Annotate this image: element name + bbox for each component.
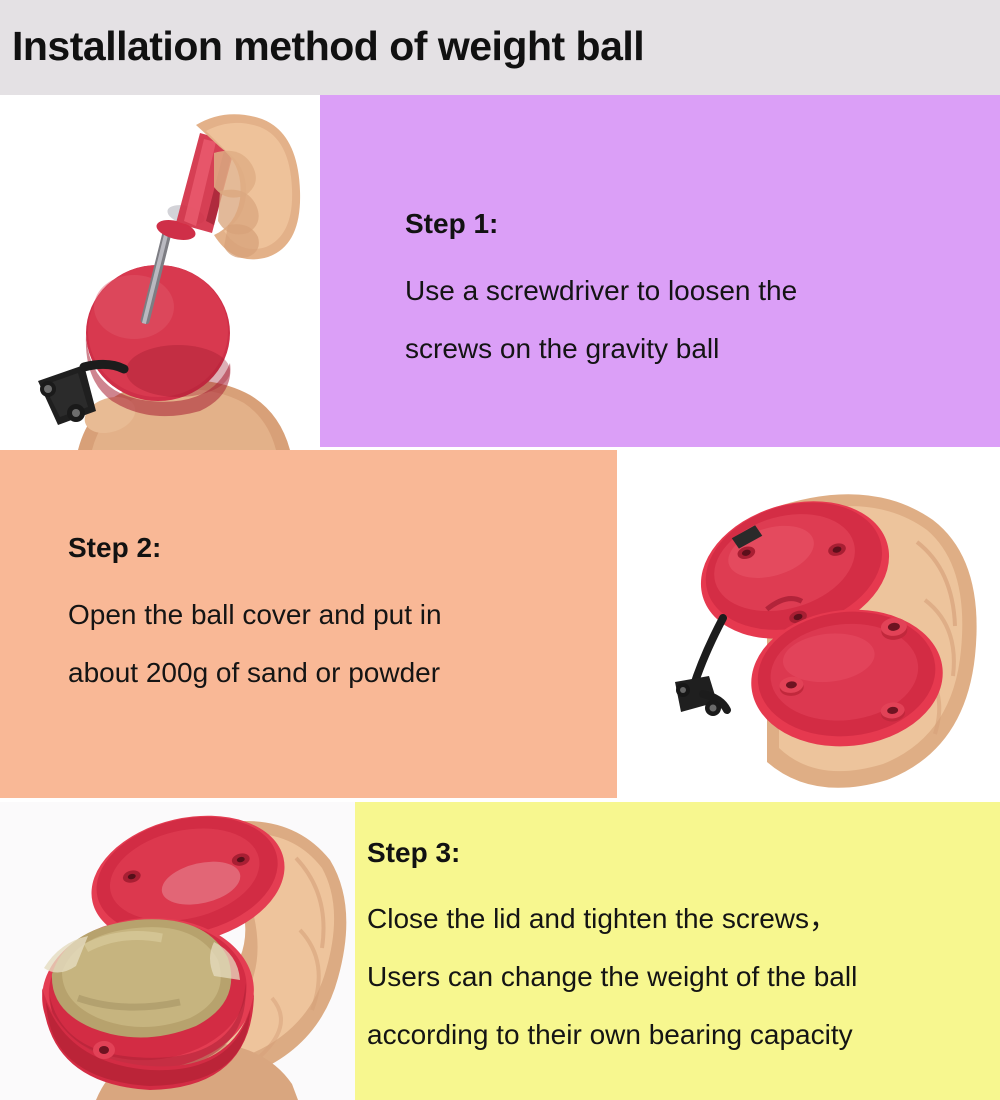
step-2-title: Step 2: — [68, 531, 161, 565]
open-ball-halves-illustration — [617, 450, 1000, 800]
step-2-text-panel: Step 2: Open the ball cover and put in a… — [0, 450, 617, 798]
step-1-body-line-1: Use a screwdriver to loosen the — [405, 262, 797, 320]
screwdriver-loosening-ball-illustration — [0, 95, 320, 450]
step-3-text-panel: Step 3: Close the lid and tighten the sc… — [355, 802, 1000, 1100]
step-1-photo — [0, 95, 320, 450]
instruction-infographic: Installation method of weight ball — [0, 0, 1000, 1100]
step-1-body: Use a screwdriver to loosen the screws o… — [405, 262, 797, 378]
step-3-photo — [0, 802, 355, 1100]
step-2-photo — [617, 450, 1000, 800]
step-2-body-line-1: Open the ball cover and put in — [68, 586, 442, 644]
step-2-body-line-2: about 200g of sand or powder — [68, 644, 442, 702]
step-3-body: Close the lid and tighten the screws， Us… — [367, 890, 857, 1064]
step-3-body-line-1: Close the lid and tighten the screws， — [367, 890, 857, 948]
step-1-title: Step 1: — [405, 207, 498, 241]
step-1-body-line-2: screws on the gravity ball — [405, 320, 797, 378]
step-3-body-line-3: according to their own bearing capacity — [367, 1006, 857, 1064]
step-2-body: Open the ball cover and put in about 200… — [68, 586, 442, 702]
page-title: Installation method of weight ball — [12, 21, 644, 71]
step-3-body-line-2: Users can change the weight of the ball — [367, 948, 857, 1006]
header-bar: Installation method of weight ball — [0, 0, 1000, 95]
step-3-title: Step 3: — [367, 836, 460, 870]
ball-with-sand-bag-illustration — [0, 802, 355, 1100]
step-1-text-panel: Step 1: Use a screwdriver to loosen the … — [320, 95, 1000, 447]
